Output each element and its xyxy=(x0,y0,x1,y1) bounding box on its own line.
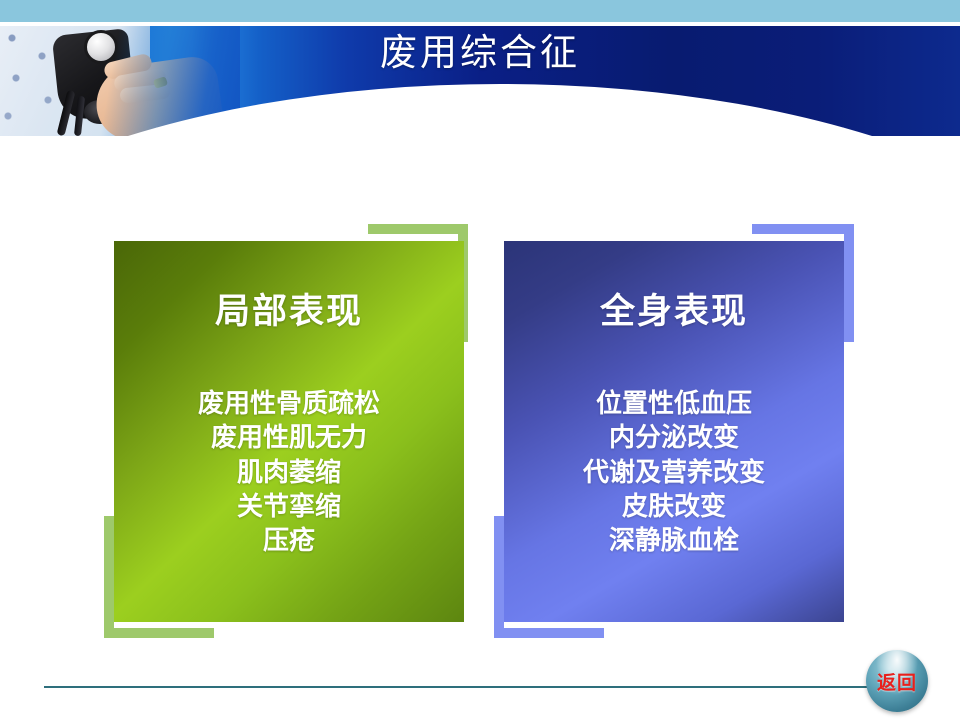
list-item: 关节挛缩 xyxy=(114,489,464,523)
bracket-arm-vertical xyxy=(844,224,854,342)
panel-local-title: 局部表现 xyxy=(114,283,464,334)
bracket-arm-vertical xyxy=(494,516,504,638)
list-item: 肌肉萎缩 xyxy=(114,455,464,489)
footer-divider-rule xyxy=(44,686,916,688)
panel-systemic-title: 全身表现 xyxy=(504,283,844,334)
list-item: 内分泌改变 xyxy=(504,420,844,454)
page-title: 废用综合征 xyxy=(0,34,960,75)
back-button-label: 返回 xyxy=(866,650,928,712)
list-item: 位置性低血压 xyxy=(504,386,844,420)
list-item: 废用性骨质疏松 xyxy=(114,386,464,420)
panel-local-list: 废用性骨质疏松 废用性肌无力 肌肉萎缩 关节挛缩 压疮 xyxy=(114,386,464,558)
bracket-arm-horizontal xyxy=(494,628,604,638)
panel-systemic-manifestations: 全身表现 位置性低血压 内分泌改变 代谢及营养改变 皮肤改变 深静脉血栓 xyxy=(504,241,844,622)
bracket-arm-horizontal xyxy=(368,224,468,234)
bracket-arm-vertical xyxy=(104,516,114,638)
top-accent-strip xyxy=(0,0,960,22)
list-item: 废用性肌无力 xyxy=(114,420,464,454)
panel-local-manifestations: 局部表现 废用性骨质疏松 废用性肌无力 肌肉萎缩 关节挛缩 压疮 xyxy=(114,241,464,622)
panel-systemic-list: 位置性低血压 内分泌改变 代谢及营养改变 皮肤改变 深静脉血栓 xyxy=(504,386,844,558)
list-item: 皮肤改变 xyxy=(504,489,844,523)
slide-canvas: 废用综合征 局部表现 废用性骨质疏松 废用性肌无力 肌肉萎缩 关节挛缩 压疮 全… xyxy=(0,0,960,720)
list-item: 代谢及营养改变 xyxy=(504,455,844,489)
list-item: 压疮 xyxy=(114,523,464,557)
list-item: 深静脉血栓 xyxy=(504,523,844,557)
back-button[interactable]: 返回 xyxy=(866,650,928,712)
bracket-arm-horizontal xyxy=(104,628,214,638)
bracket-arm-horizontal xyxy=(752,224,854,234)
